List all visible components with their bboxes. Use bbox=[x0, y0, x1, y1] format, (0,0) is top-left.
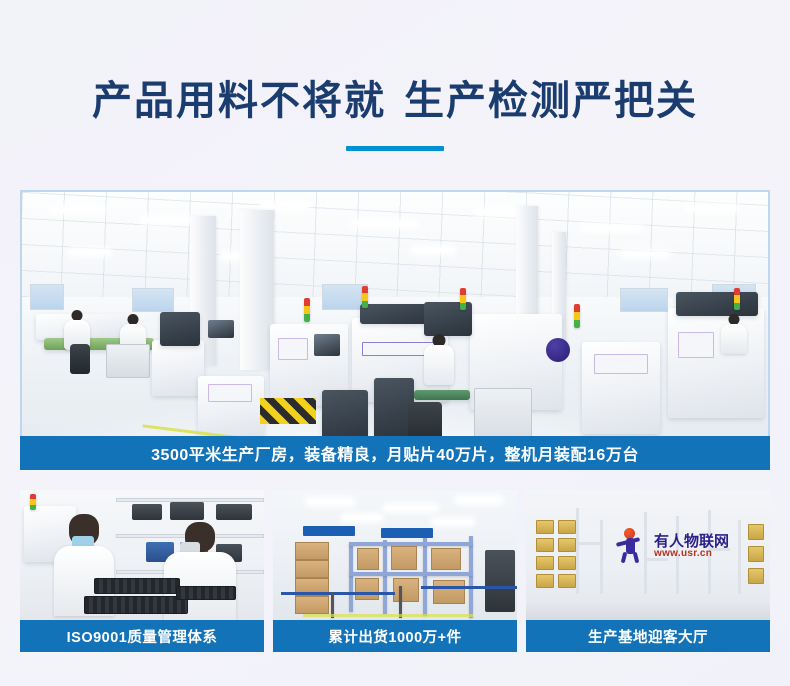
worker bbox=[722, 314, 746, 354]
thumbnail-card-2: 累计出货1000万+件 bbox=[273, 490, 517, 652]
thumbnail-caption-3: 生产基地迎客大厅 bbox=[526, 620, 770, 652]
signal-tower bbox=[460, 288, 466, 310]
signal-tower bbox=[734, 288, 740, 310]
wall-decor-line bbox=[576, 508, 579, 594]
rack-beam bbox=[349, 572, 473, 576]
aisle-sign bbox=[303, 526, 355, 536]
hero-photo bbox=[22, 192, 768, 468]
rack-upright bbox=[383, 540, 387, 614]
waste-bin bbox=[70, 344, 90, 374]
machine-top-cover bbox=[676, 292, 758, 316]
carton-stack bbox=[295, 596, 329, 614]
page-title-left: 产品用料不将就 bbox=[92, 79, 386, 123]
usr-logo-mark bbox=[614, 528, 654, 562]
thumbnail-photo-lobby: 有人物联网 www.usr.cn bbox=[526, 490, 770, 620]
award-plaque bbox=[558, 538, 576, 552]
award-plaque bbox=[536, 556, 554, 570]
ceiling-lamp bbox=[385, 506, 437, 510]
thumbnail-card-1: ISO9001质量管理体系 bbox=[20, 490, 264, 652]
control-panel bbox=[594, 354, 648, 374]
hero-image bbox=[20, 190, 770, 470]
machine-badge bbox=[546, 338, 570, 362]
control-panel bbox=[678, 332, 714, 358]
award-plaque bbox=[748, 524, 764, 540]
carton bbox=[357, 548, 379, 570]
wall-decor-line bbox=[576, 542, 602, 545]
storage-box bbox=[485, 550, 515, 612]
barrier-rope bbox=[281, 592, 395, 595]
wave-solder-machine bbox=[668, 308, 764, 418]
storage-box bbox=[132, 504, 162, 520]
machine-screen bbox=[314, 334, 340, 356]
ceiling-lamp bbox=[687, 206, 737, 210]
ceiling-lamp bbox=[352, 222, 416, 226]
component-tray bbox=[94, 578, 180, 594]
thumbnail-caption-2: 累计出货1000万+件 bbox=[273, 620, 517, 652]
wall-decor-line bbox=[600, 520, 603, 594]
wall-decor-line bbox=[738, 520, 741, 594]
esd-workbench bbox=[414, 390, 470, 400]
award-plaque bbox=[748, 546, 764, 562]
worker bbox=[424, 334, 454, 396]
accent-underline bbox=[346, 146, 444, 151]
window bbox=[132, 288, 174, 312]
machine-top-cover bbox=[160, 312, 200, 346]
aisle-sign bbox=[381, 528, 433, 538]
page-title-right: 生产检测严把关 bbox=[404, 79, 698, 123]
signal-tower bbox=[574, 304, 580, 328]
ceiling-lamp bbox=[343, 516, 381, 520]
carton-stack bbox=[295, 560, 329, 578]
thumbnail-caption-1: ISO9001质量管理体系 bbox=[20, 620, 264, 652]
worker-coat bbox=[424, 345, 454, 385]
carton bbox=[393, 578, 419, 602]
floor-marking bbox=[303, 614, 473, 617]
logo-figure-leg bbox=[621, 552, 628, 564]
hero-caption: 3500平米生产厂房，装备精良，月贴片40万片，整机月装配16万台 bbox=[20, 436, 770, 470]
machine-screen bbox=[208, 320, 234, 338]
carton-stack bbox=[295, 542, 329, 560]
rack-upright bbox=[349, 542, 353, 612]
control-panel bbox=[208, 384, 252, 402]
award-plaque bbox=[536, 520, 554, 534]
ceiling-lamp bbox=[622, 252, 668, 256]
rack-upright bbox=[469, 536, 473, 618]
ceiling-lamp bbox=[412, 248, 454, 252]
ceiling-grid bbox=[22, 192, 768, 297]
storage-box bbox=[216, 504, 252, 520]
worker-coat bbox=[721, 324, 747, 354]
storage-box bbox=[170, 502, 204, 520]
signal-tower bbox=[362, 286, 368, 308]
ceiling-lamp bbox=[70, 250, 110, 254]
ceiling-lamp bbox=[457, 498, 501, 502]
window bbox=[620, 288, 668, 312]
award-plaque bbox=[558, 574, 576, 588]
page-header: 产品用料不将就生产检测严把关 bbox=[0, 0, 790, 151]
logo-figure-leg bbox=[633, 552, 640, 564]
thumbnail-card-3: 有人物联网 www.usr.cn 生产基地迎客大厅 bbox=[526, 490, 770, 652]
ceiling-lamp bbox=[262, 204, 308, 208]
barrier-rope bbox=[421, 586, 517, 589]
thumbnail-photo-inspection bbox=[20, 490, 264, 620]
carton bbox=[355, 578, 379, 600]
thumbnail-photo-warehouse bbox=[273, 490, 517, 620]
usr-logo-url: www.usr.cn bbox=[654, 548, 712, 559]
ceiling-lamp bbox=[307, 500, 353, 504]
control-panel bbox=[278, 338, 308, 360]
component-tray bbox=[176, 586, 236, 600]
page-title: 产品用料不将就生产检测严把关 bbox=[0, 78, 790, 124]
lobby-floor bbox=[526, 600, 770, 620]
hazard-marking bbox=[260, 398, 316, 424]
award-plaque bbox=[536, 574, 554, 588]
ceiling-lamp bbox=[582, 226, 642, 230]
award-plaque bbox=[748, 568, 764, 584]
smt-machine bbox=[152, 340, 204, 396]
award-plaque bbox=[558, 556, 576, 570]
ceiling-lamp bbox=[433, 520, 473, 524]
signal-tower bbox=[304, 298, 310, 322]
rack-upright bbox=[423, 538, 427, 616]
material-cart bbox=[106, 344, 150, 378]
ceiling-lamp bbox=[52, 208, 104, 212]
award-plaque bbox=[558, 520, 576, 534]
carton bbox=[391, 546, 417, 570]
carton bbox=[431, 548, 461, 570]
component-tray bbox=[84, 596, 188, 614]
carton bbox=[433, 580, 465, 604]
award-plaque bbox=[536, 538, 554, 552]
window bbox=[30, 284, 64, 310]
signal-tower bbox=[30, 494, 36, 510]
pillar bbox=[240, 210, 274, 370]
